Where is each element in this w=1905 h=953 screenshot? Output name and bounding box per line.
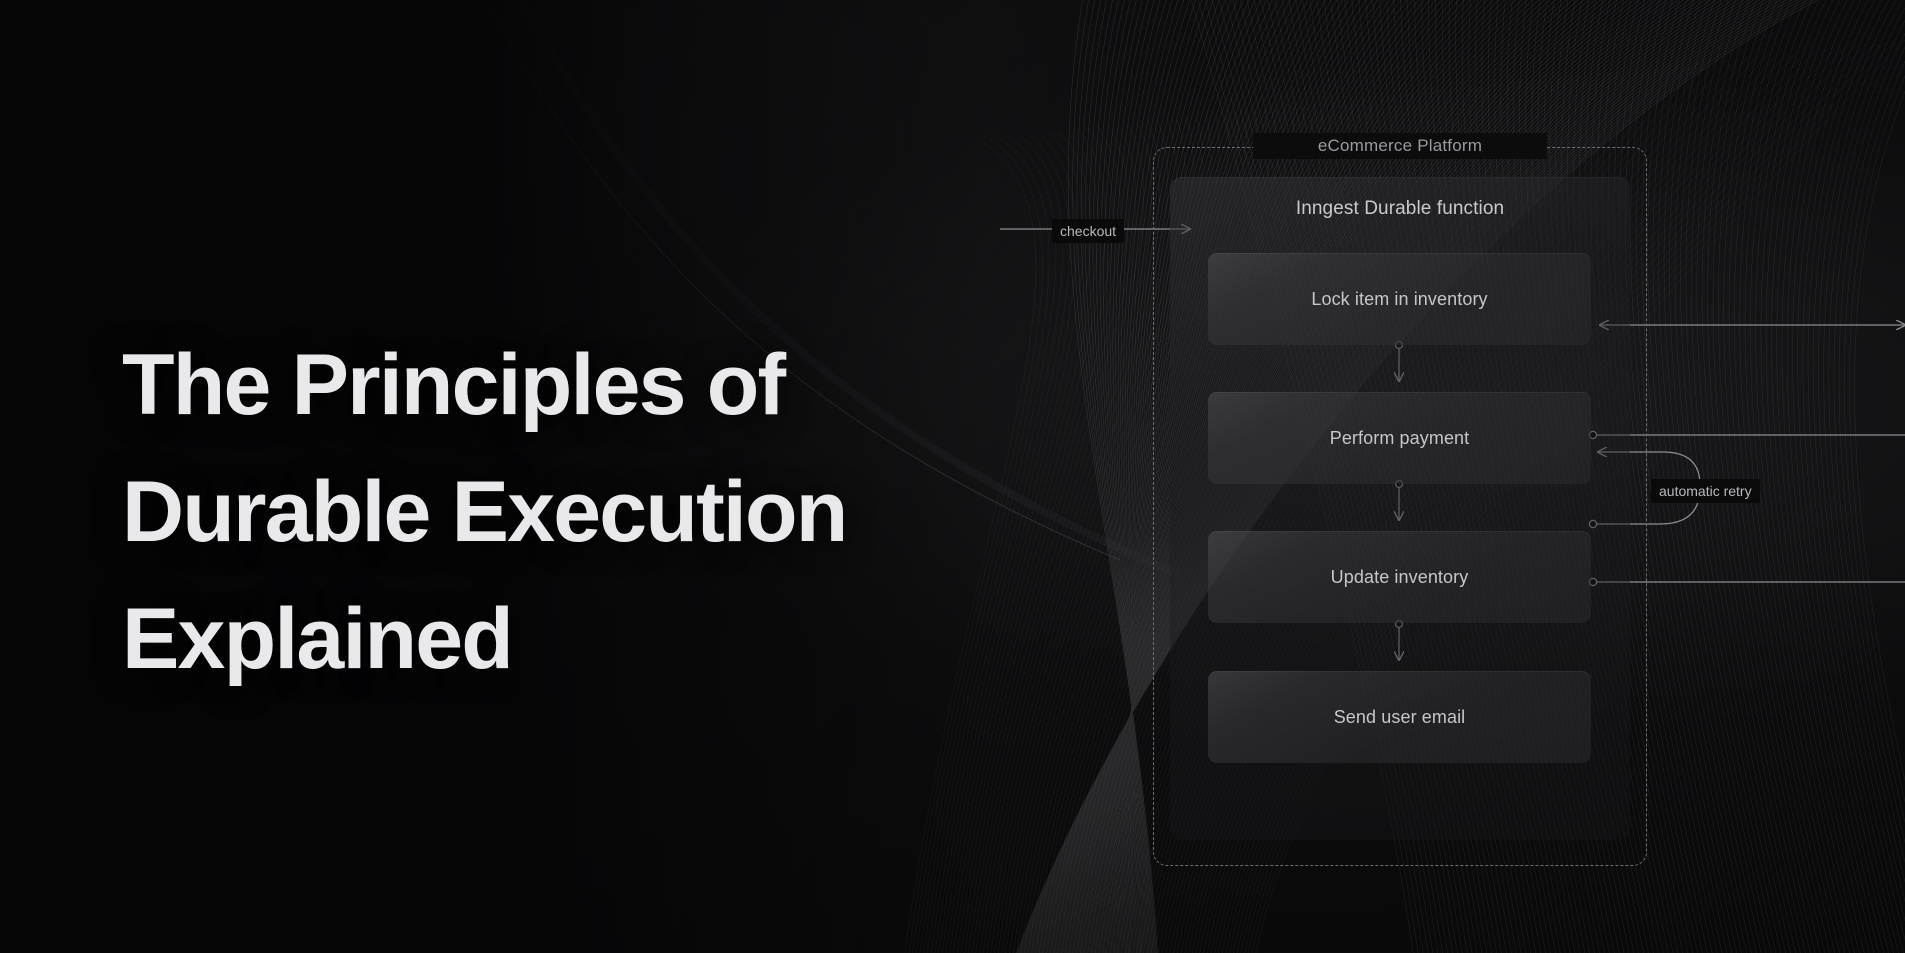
edge-label-checkout: checkout — [1052, 219, 1124, 243]
step-update-inventory[interactable]: Update inventory — [1208, 531, 1591, 623]
step-lock-item-in-inventory[interactable]: Lock item in inventory — [1208, 253, 1591, 345]
durable-function-title: Inngest Durable function — [1170, 198, 1630, 220]
step-label: Send user email — [1334, 707, 1466, 728]
step-label: Perform payment — [1330, 428, 1470, 449]
hero-banner: The Principles of Durable Execution Expl… — [0, 0, 1905, 953]
edge-label-automatic-retry: automatic retry — [1651, 479, 1760, 503]
durable-function-diagram: eCommerce Platform Inngest Durable funct… — [0, 0, 1905, 953]
step-label: Lock item in inventory — [1311, 289, 1487, 310]
step-label: Update inventory — [1331, 567, 1469, 588]
platform-title: eCommerce Platform — [1253, 133, 1547, 159]
step-send-user-email[interactable]: Send user email — [1208, 671, 1591, 763]
step-perform-payment[interactable]: Perform payment — [1208, 392, 1591, 484]
